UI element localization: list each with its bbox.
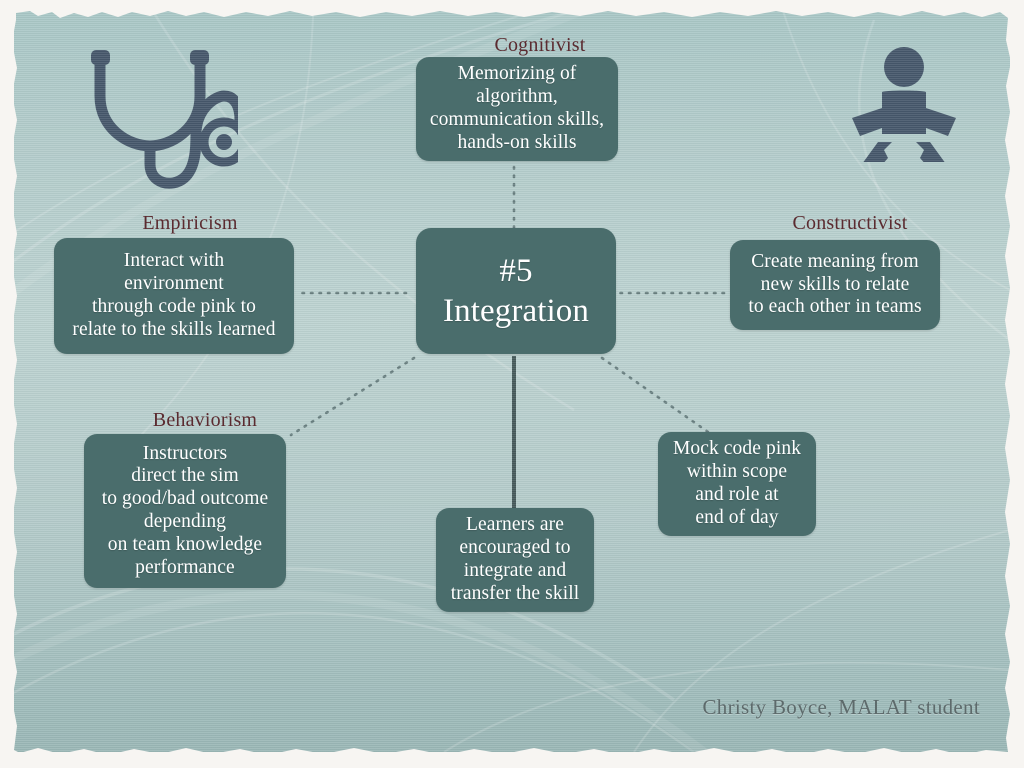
category-label-constructivist: Constructivist [755,212,945,235]
node-constructivist[interactable]: Create meaning from new skills to relate… [730,240,940,330]
node-cognitivist[interactable]: Memorizing of algorithm, communication s… [416,57,618,161]
connector-center-to-behaviorism [291,358,414,435]
category-label-empiricism: Empiricism [110,212,270,235]
category-label-behaviorism: Behaviorism [110,409,300,432]
node-behaviorism[interactable]: Instructors direct the sim to good/bad o… [84,434,286,588]
slide-canvas: Cognitivist Empiricism Constructivist Be… [0,0,1024,768]
node-mock-code-pink[interactable]: Mock code pink within scope and role at … [658,432,816,536]
stethoscope-icon [72,38,238,190]
node-empiricism[interactable]: Interact with environment through code p… [54,238,294,354]
baby-icon [844,46,964,162]
node-learners[interactable]: Learners are encouraged to integrate and… [436,508,594,612]
byline-attribution: Christy Boyce, MALAT student [702,695,980,720]
node-center-integration[interactable]: #5 Integration [416,228,616,354]
category-label-cognitivist: Cognitivist [460,34,620,57]
connector-center-to-mock-code-pink [602,358,711,434]
